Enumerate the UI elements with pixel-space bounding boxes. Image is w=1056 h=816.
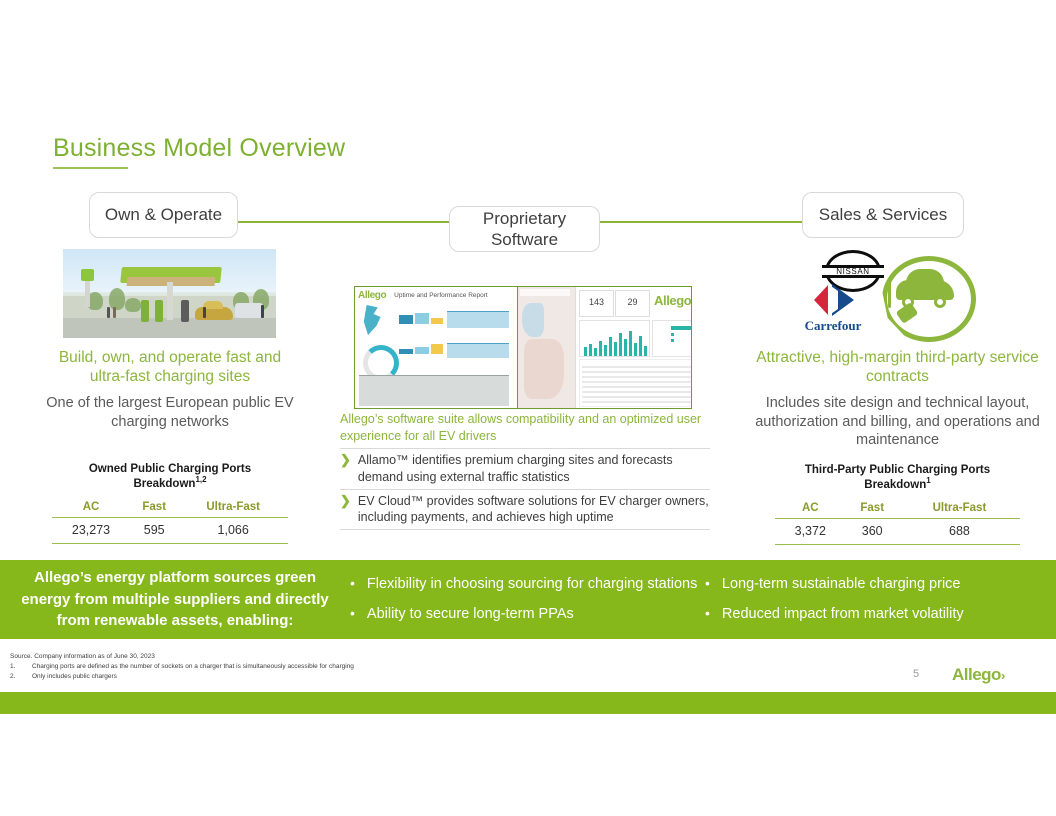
right-headline: Attractive, high-margin third-party serv… (755, 348, 1040, 387)
right-table-title: Third-Party Public Charging Ports Breakd… (775, 464, 1020, 491)
list-item-label: Long-term sustainable charging price (722, 574, 961, 596)
footnote-2: 2. Only includes public chargers (10, 672, 354, 682)
table-header-row: AC Fast Ultra-Fast (775, 499, 1020, 519)
list-item-label: Ability to secure long-term PPAs (367, 604, 574, 626)
column-header-ac: AC (52, 498, 130, 518)
page-title: Business Model Overview (53, 134, 345, 163)
bullet-dot-icon: • (350, 604, 355, 624)
allego-logo-text: Allego (952, 665, 1001, 684)
footnote-2-text: Only includes public chargers (32, 672, 117, 682)
table-row: 3,372 360 688 (775, 519, 1020, 545)
pillar-sales-label: Sales & Services (819, 204, 948, 225)
column-sales-services: Attractive, high-margin third-party serv… (755, 248, 1040, 545)
column-header-fast: Fast (846, 499, 899, 519)
cell-ac-value: 3,372 (775, 519, 846, 545)
pillar-own-and-operate[interactable]: Own & Operate (89, 192, 238, 238)
list-item-label: Flexibility in choosing sourcing for cha… (367, 574, 697, 596)
center-headline: Allego’s software suite allows compatibi… (340, 411, 710, 445)
cell-fast-value: 360 (846, 519, 899, 545)
left-table-title: Owned Public Charging Ports Breakdown1,2 (52, 463, 288, 490)
list-item: • Long-term sustainable charging price (705, 570, 1035, 600)
chevron-right-icon: › (1001, 668, 1005, 683)
chevron-right-icon: ❯ (340, 452, 351, 486)
column-header-ac: AC (775, 499, 846, 519)
slide-canvas: Business Model Overview Own & Operate Pr… (0, 0, 1056, 816)
bullet-dot-icon: • (350, 574, 355, 594)
right-table-title-superscript: 1 (926, 476, 930, 485)
cell-fast-value: 595 (130, 518, 178, 544)
left-table-title-superscript: 1,2 (195, 475, 206, 484)
table-header-row: AC Fast Ultra-Fast (52, 498, 288, 518)
right-subcopy: Includes site design and technical layou… (755, 394, 1040, 451)
cell-ultra-fast-value: 688 (899, 519, 1020, 545)
title-underline (53, 167, 128, 169)
list-item-label: Allamo™ identifies premium charging site… (358, 452, 710, 486)
bottom-green-bar (0, 692, 1056, 714)
third-party-ports-table: AC Fast Ultra-Fast 3,372 360 688 (775, 499, 1020, 545)
center-bullet-list: ❯ Allamo™ identifies premium charging si… (340, 448, 710, 531)
connector-line-right (592, 221, 808, 223)
connector-line-left (230, 221, 472, 223)
column-header-ultra-fast: Ultra-Fast (899, 499, 1020, 519)
column-own-operate: Build, own, and operate fast and ultra-f… (40, 248, 300, 544)
column-proprietary-software: Allego’s software suite allows compatibi… (340, 283, 710, 530)
right-table-title-text: Third-Party Public Charging Ports Breakd… (805, 464, 990, 491)
table-row: 23,273 595 1,066 (52, 518, 288, 544)
list-item: • Flexibility in choosing sourcing for c… (350, 570, 705, 600)
list-item: ❯ Allamo™ identifies premium charging si… (340, 448, 710, 489)
list-item: ❯ EV Cloud™ provides software solutions … (340, 489, 710, 531)
cell-ultra-fast-value: 1,066 (178, 518, 288, 544)
owned-ports-table: AC Fast Ultra-Fast 23,273 595 1,066 (52, 498, 288, 544)
footnote-1-text: Charging ports are defined as the number… (32, 662, 354, 672)
left-subcopy: One of the largest European public EV ch… (40, 394, 300, 432)
left-headline: Build, own, and operate fast and ultra-f… (40, 348, 300, 387)
footnotes: Source. Company information as of June 3… (10, 652, 354, 682)
banner-column-1: • Flexibility in choosing sourcing for c… (350, 570, 705, 630)
list-item-label: EV Cloud™ provides software solutions fo… (358, 493, 710, 527)
list-item-label: Reduced impact from market volatility (722, 604, 964, 626)
bullet-dot-icon: • (705, 604, 710, 624)
green-energy-banner: Allego’s energy platform sources green e… (0, 560, 1056, 639)
cell-ac-value: 23,273 (52, 518, 130, 544)
pillar-software-label: Proprietary Software (450, 208, 599, 251)
pillar-proprietary-software[interactable]: Proprietary Software (449, 206, 600, 252)
left-table-title-text: Owned Public Charging Ports Breakdown (89, 463, 251, 490)
list-item: • Reduced impact from market volatility (705, 600, 1035, 630)
chevron-right-icon: ❯ (340, 493, 351, 527)
footnote-1-number: 1. (10, 662, 32, 672)
bullet-dot-icon: • (705, 574, 710, 594)
banner-column-2: • Long-term sustainable charging price •… (705, 570, 1035, 630)
column-header-fast: Fast (130, 498, 178, 518)
list-item: • Ability to secure long-term PPAs (350, 600, 705, 630)
allego-logo: Allego› (952, 665, 1005, 685)
pillar-own-label: Own & Operate (105, 204, 222, 225)
footnote-2-number: 2. (10, 672, 32, 682)
pillar-sales-and-services[interactable]: Sales & Services (802, 192, 964, 238)
banner-lead-text: Allego’s energy platform sources green e… (0, 567, 350, 632)
footnote-source: Source. Company information as of June 3… (10, 652, 354, 662)
column-header-ultra-fast: Ultra-Fast (178, 498, 288, 518)
footnote-1: 1. Charging ports are defined as the num… (10, 662, 354, 672)
page-number: 5 (913, 668, 919, 680)
